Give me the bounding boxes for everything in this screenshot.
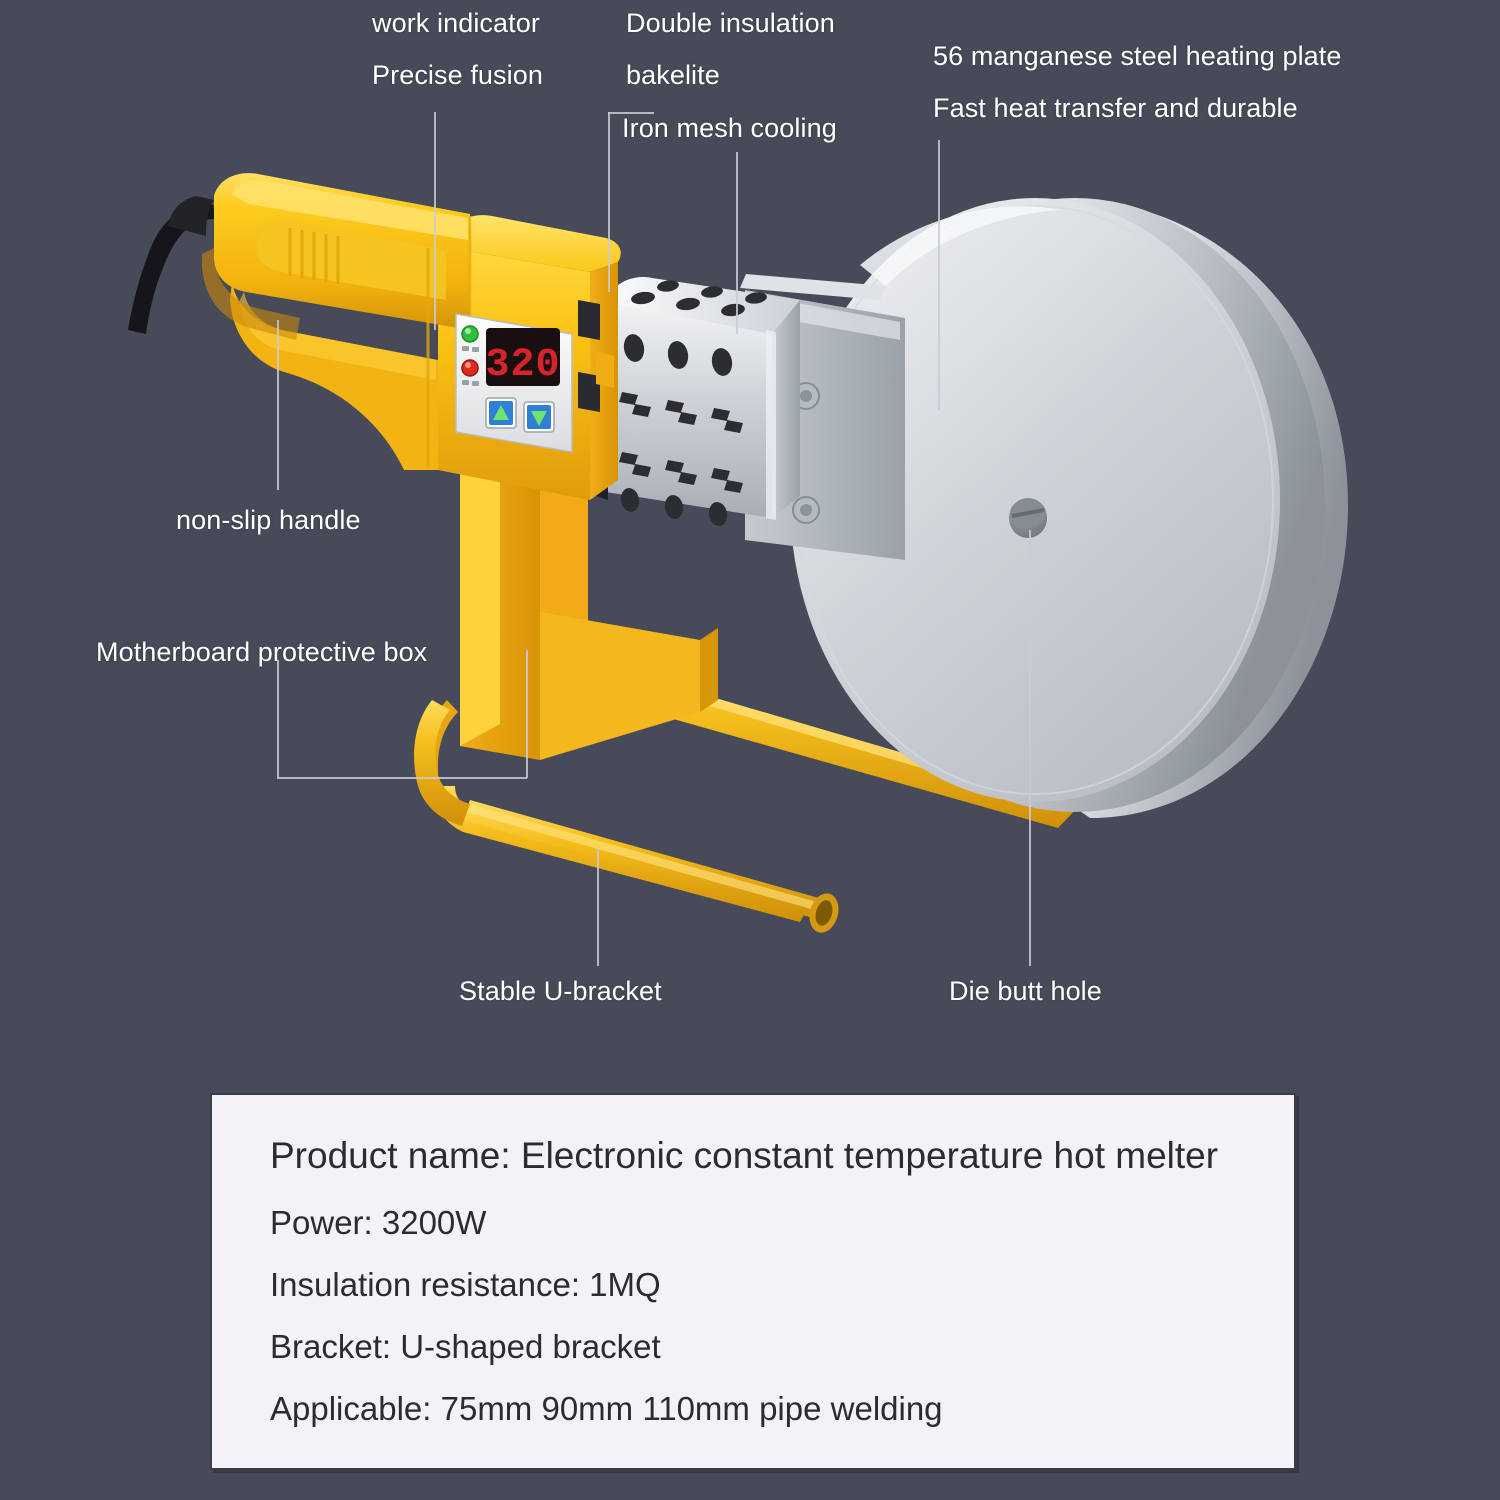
- callout-bakelite: bakelite: [626, 60, 720, 90]
- leader-motherboard-tip: [526, 650, 528, 778]
- control-panel[interactable]: 320: [456, 314, 572, 452]
- spec-applicable: Applicable: 75mm 90mm 110mm pipe welding: [270, 1392, 1294, 1425]
- leader-manganese-plate: [938, 140, 940, 410]
- callout-manganese-plate: 56 manganese steel heating plate: [933, 41, 1342, 71]
- callout-precise-fusion: Precise fusion: [372, 60, 543, 90]
- iron-mesh-block: [590, 277, 800, 527]
- leader-motherboard-h: [277, 777, 527, 779]
- leader-iron-mesh-v: [736, 152, 738, 334]
- callout-non-slip-handle: non-slip handle: [176, 505, 361, 535]
- callout-stable-u-bracket: Stable U-bracket: [459, 976, 662, 1006]
- callout-work-indicator: work indicator: [372, 8, 540, 38]
- spec-power: Power: 3200W: [270, 1206, 1294, 1239]
- leader-die-butt-hole: [1029, 530, 1031, 966]
- leader-u-bracket: [597, 848, 599, 966]
- callout-iron-mesh-cooling: Iron mesh cooling: [622, 113, 837, 143]
- temperature-value: 320: [485, 343, 560, 388]
- leader-double-insulation: [608, 112, 610, 292]
- leader-non-slip-handle: [277, 320, 279, 490]
- heat-indicator-led: [462, 360, 478, 376]
- callout-fast-heat-transfer: Fast heat transfer and durable: [933, 93, 1298, 123]
- spec-product-name: Product name: Electronic constant temper…: [270, 1137, 1294, 1174]
- specifications-panel: Product name: Electronic constant temper…: [210, 1093, 1296, 1470]
- spec-bracket: Bracket: U-shaped bracket: [270, 1330, 1294, 1363]
- callout-motherboard-box: Motherboard protective box: [96, 637, 427, 667]
- leader-motherboard-v: [277, 660, 279, 778]
- spec-insulation-resistance: Insulation resistance: 1MQ: [270, 1268, 1294, 1301]
- infographic-canvas: 320 work indicator Precise fusion Double…: [0, 0, 1500, 1500]
- callout-die-butt-hole: Die butt hole: [949, 976, 1102, 1006]
- power-indicator-led: [462, 326, 478, 342]
- leader-work-indicator: [434, 112, 436, 330]
- callout-double-insulation: Double insulation: [626, 8, 835, 38]
